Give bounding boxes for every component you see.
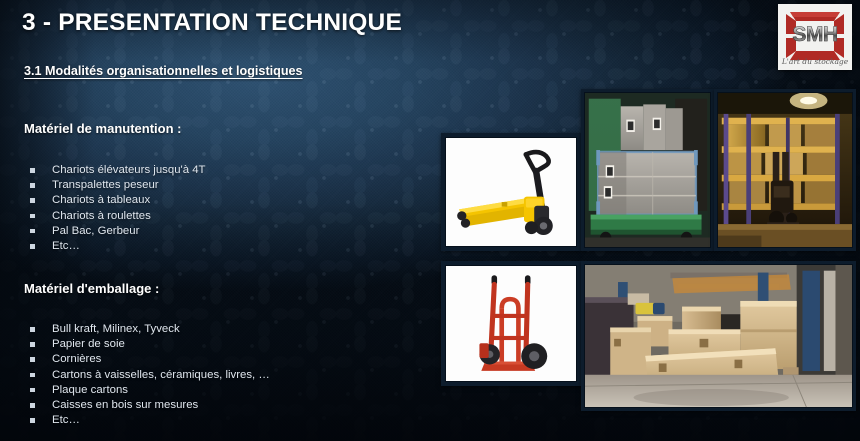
list-item: Cartons à vaisselles, céramiques, livres… xyxy=(30,368,270,383)
list-item: Chariots à tableaux xyxy=(30,193,206,208)
list-item: Plaque cartons xyxy=(30,383,270,398)
smh-logo: SMH L'art du stockage xyxy=(778,4,852,70)
smh-logo-text: SMH xyxy=(778,23,852,47)
bullet-square-icon xyxy=(30,229,35,234)
list-item: Chariots élévateurs jusqu'à 4T xyxy=(30,163,206,178)
list-item: Transpalettes peseur xyxy=(30,178,206,193)
hand-truck-photo xyxy=(441,261,581,386)
slide-title: 3 - PRESENTATION TECHNIQUE xyxy=(22,9,402,37)
list-item-label: Cartons à vaisselles, céramiques, livres… xyxy=(52,369,270,381)
pallet-jack-illustration xyxy=(446,138,576,246)
slide-subtitle: 3.1 Modalités organisationnelles et logi… xyxy=(24,64,303,78)
bullet-square-icon xyxy=(30,403,35,408)
warehouse-racking-illustration xyxy=(718,93,852,247)
bullet-square-icon xyxy=(30,198,35,203)
list-item-label: Transpalettes peseur xyxy=(52,179,159,191)
list-item: Etc… xyxy=(30,413,270,428)
wooden-crates-illustration xyxy=(585,265,852,407)
list-item-label: Chariots à tableaux xyxy=(52,194,150,206)
bullet-square-icon xyxy=(30,388,35,393)
bullet-square-icon xyxy=(30,183,35,188)
list-item-label: Chariots élévateurs jusqu'à 4T xyxy=(52,164,206,176)
section-heading-manutention: Matériel de manutention : xyxy=(24,121,181,136)
warehouse-racking-photo xyxy=(714,89,856,251)
bullet-square-icon xyxy=(30,168,35,173)
list-item-label: Papier de soie xyxy=(52,338,125,350)
list-item-label: Bull kraft, Milinex, Tyveck xyxy=(52,323,180,335)
wrapped-crates-photo xyxy=(581,89,714,251)
bullet-square-icon xyxy=(30,373,35,378)
list-item: Cornières xyxy=(30,352,270,367)
bullet-square-icon xyxy=(30,418,35,423)
list-item: Caisses en bois sur mesures xyxy=(30,398,270,413)
list-item: Etc… xyxy=(30,239,206,254)
hand-truck-illustration xyxy=(446,266,576,381)
bullet-list-emballage: Bull kraft, Milinex, Tyveck Papier de so… xyxy=(30,322,270,428)
list-item-label: Plaque cartons xyxy=(52,384,128,396)
list-item: Pal Bac, Gerbeur xyxy=(30,224,206,239)
bullet-square-icon xyxy=(30,342,35,347)
list-item-label: Etc… xyxy=(52,414,80,426)
presentation-slide: 3 - PRESENTATION TECHNIQUE 3.1 Modalités… xyxy=(0,0,860,441)
list-item-label: Chariots à roulettes xyxy=(52,210,151,222)
wooden-crates-photo xyxy=(581,261,856,411)
section-heading-emballage: Matériel d'emballage : xyxy=(24,281,159,296)
list-item-label: Pal Bac, Gerbeur xyxy=(52,225,139,237)
pallet-jack-photo xyxy=(441,133,581,251)
list-item: Papier de soie xyxy=(30,337,270,352)
bullet-list-manutention: Chariots élévateurs jusqu'à 4T Transpale… xyxy=(30,163,206,254)
bullet-square-icon xyxy=(30,327,35,332)
bullet-square-icon xyxy=(30,357,35,362)
wrapped-crates-illustration xyxy=(585,93,710,247)
list-item-label: Cornières xyxy=(52,353,101,365)
list-item-label: Caisses en bois sur mesures xyxy=(52,399,198,411)
bullet-square-icon xyxy=(30,244,35,249)
smh-logo-tagline: L'art du stockage xyxy=(778,57,852,66)
bullet-square-icon xyxy=(30,214,35,219)
list-item: Bull kraft, Milinex, Tyveck xyxy=(30,322,270,337)
list-item: Chariots à roulettes xyxy=(30,209,206,224)
list-item-label: Etc… xyxy=(52,240,80,252)
